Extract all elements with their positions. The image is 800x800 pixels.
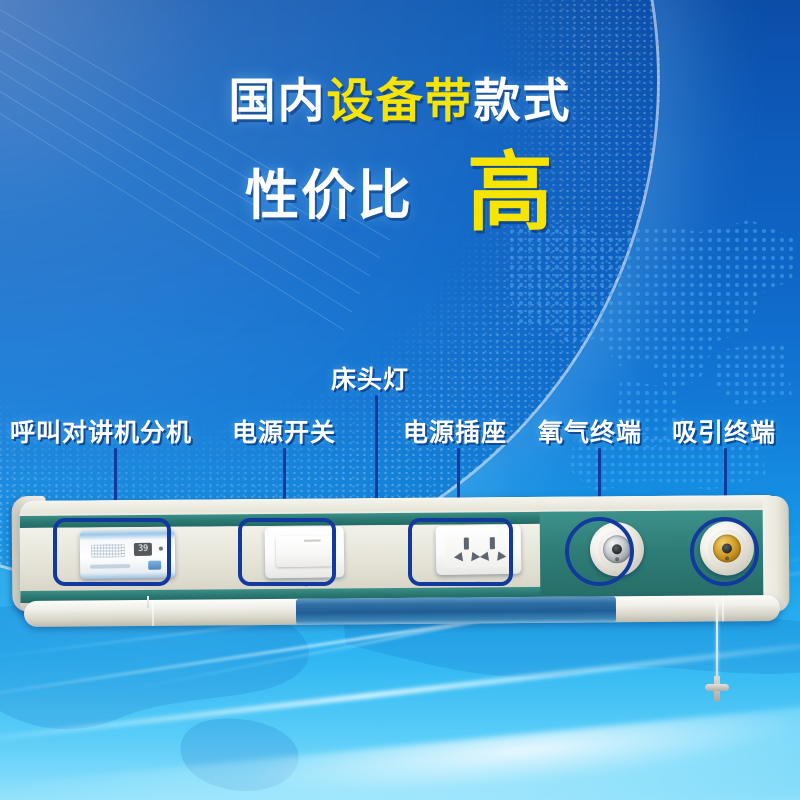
callout-label-power-switch: 电源开关 [232,413,336,449]
callout-label-bed-lamp: 床头灯 [331,360,409,396]
suction-hanging-cord[interactable] [716,598,718,680]
plug-crossbar-icon [705,684,729,691]
highlight-box-power-socket [408,518,513,586]
headline-line-1: 国内设备带款式 [0,78,800,125]
headline-text-high: 高 [467,158,555,229]
continent-silhouettes [0,600,800,800]
horizon-glow [0,698,800,800]
panel-cord-short [147,596,149,608]
highlight-box-intercom [53,518,171,586]
highlight-circle-oxygen [565,517,634,586]
rail-seam [722,595,724,621]
callout-label-nurse-call-intercom: 呼叫对讲机分机 [10,413,192,449]
highlight-box-power-switch [238,518,336,586]
callout-label-power-socket: 电源插座 [403,413,507,449]
callout-label-suction-terminal: 吸引终端 [672,413,776,449]
rail-seam [152,600,154,626]
radiating-lines-decoration [0,0,420,350]
poster-canvas: 国内设备带款式 性价比 高 呼叫对讲机分机 电源开关 床头灯 电源插座 氧气终端… [0,0,800,800]
rail-blue-section [296,596,616,625]
cord-plug-connector[interactable] [705,676,729,702]
panel-bottom-rail [24,595,780,627]
headline-text-domestic: 国内 [229,74,327,129]
headline-text-equipment-belt: 设备带 [327,74,474,129]
callout-label-oxygen-terminal: 氧气终端 [538,413,642,449]
headline-text-style: 款式 [474,74,572,129]
headline-line-2: 性价比 高 [0,152,800,223]
background-layer [0,0,800,800]
headline-text-value-ratio: 性价比 [245,169,413,223]
light-streak [0,633,800,747]
headline-block: 国内设备带款式 性价比 高 [0,78,800,223]
highlight-circle-suction [690,517,759,586]
